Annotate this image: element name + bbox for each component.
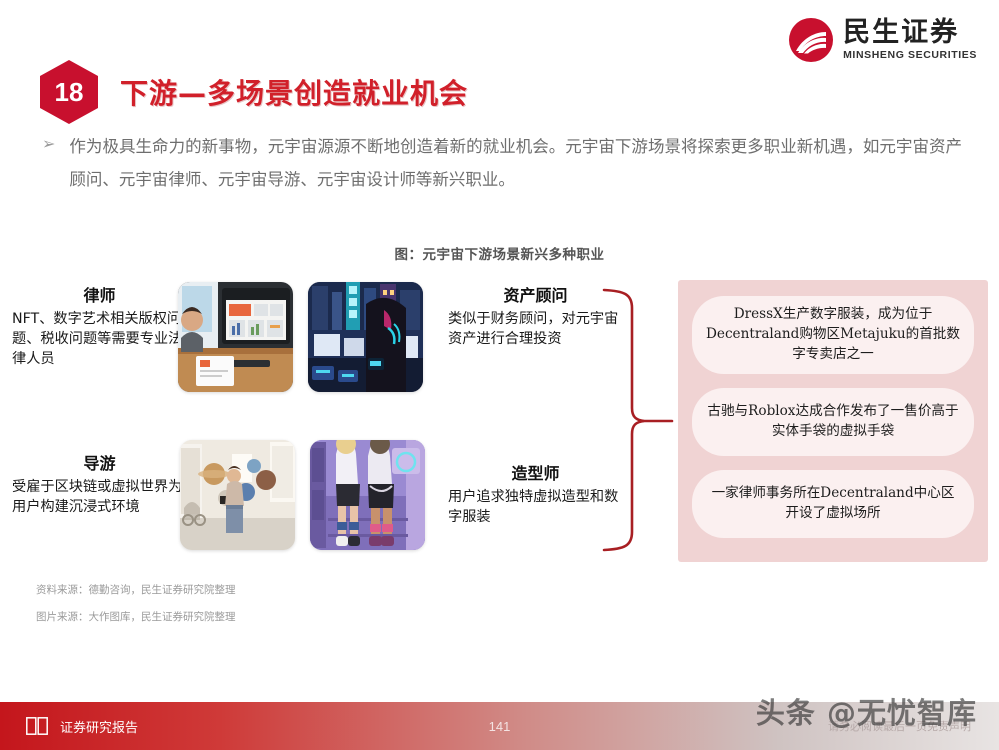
bullet-text: 作为极具生命力的新事物，元宇宙源源不断地创造着新的就业机会。元宇宙下游场景将探索…	[69, 130, 962, 196]
page-title: 下游—多场景创造就业机会	[120, 72, 468, 112]
role-block-advisor: 资产顾问 类似于财务顾问，对元宇宙资产进行合理投资	[448, 282, 623, 349]
role-title-guide: 导游	[12, 450, 187, 474]
bullet-arrow-icon: ➢	[42, 130, 55, 160]
case-pill-3: 一家律师事务所在Decentraland中心区开设了虚拟场所	[692, 470, 974, 538]
role-block-guide: 导游 受雇于区块链或虚拟世界为用户构建沉浸式环境	[12, 450, 187, 517]
photo-planets-room-art	[180, 440, 295, 550]
case-pill-2: 古驰与Roblox达成合作发布了一售价高于实体手袋的虚拟手袋	[692, 388, 974, 456]
slide-title-row: 18 下游—多场景创造就业机会	[40, 60, 468, 124]
role-title-lawyer: 律师	[12, 282, 187, 306]
figure-cluster: 律师 NFT、数字艺术相关版权问题、税收问题等需要专业法律人员 导游 受雇于区块…	[0, 270, 999, 570]
bullet-paragraph: ➢ 作为极具生命力的新事物，元宇宙源源不断地创造着新的就业机会。元宇宙下游场景将…	[42, 130, 962, 196]
case-panel: DressX生产数字服装，成为位于Decentraland购物区Metajuku…	[678, 280, 988, 562]
photo-avatars-fashion	[310, 440, 425, 550]
footer-disclaimer: 请务必阅读最后一页免责声明	[828, 718, 971, 734]
role-block-lawyer: 律师 NFT、数字艺术相关版权问题、税收问题等需要专业法律人员	[12, 282, 187, 369]
minsheng-logo-icon	[789, 18, 833, 62]
role-desc-guide: 受雇于区块链或虚拟世界为用户构建沉浸式环境	[12, 477, 187, 517]
photo-office-meeting	[178, 282, 293, 392]
role-desc-lawyer: NFT、数字艺术相关版权问题、税收问题等需要专业法律人员	[12, 309, 187, 369]
connector-brace	[600, 286, 690, 554]
role-block-stylist: 造型师 用户追求独特虚拟造型和数字服装	[448, 460, 623, 527]
source-image: 图片来源：大作图库，民生证券研究院整理	[36, 610, 236, 625]
company-logo: 民生证券 MINSHENG SECURITIES	[789, 18, 977, 62]
role-title-stylist: 造型师	[448, 460, 623, 484]
source-notes: 资料来源：德勤咨询，民生证券研究院整理 图片来源：大作图库，民生证券研究院整理	[36, 583, 236, 636]
figure-caption: 图：元宇宙下游场景新兴多种职业	[0, 243, 999, 263]
section-number-text: 18	[55, 77, 84, 108]
logo-wordmark: 民生证券 MINSHENG SECURITIES	[843, 19, 977, 61]
photo-planets-room	[180, 440, 295, 550]
brace-shape	[600, 286, 690, 554]
logo-english-name: MINSHENG SECURITIES	[843, 49, 977, 61]
logo-swoosh-shape	[795, 30, 827, 54]
photo-office-meeting-art	[178, 282, 293, 392]
role-desc-advisor: 类似于财务顾问，对元宇宙资产进行合理投资	[448, 309, 623, 349]
photo-cyber-city-art	[308, 282, 423, 392]
photo-cyber-city	[308, 282, 423, 392]
role-desc-stylist: 用户追求独特虚拟造型和数字服装	[448, 487, 623, 527]
logo-chinese-name: 民生证券	[843, 19, 977, 47]
photo-avatars-fashion-art	[310, 440, 425, 550]
footer-bar: 证券研究报告 141 请务必阅读最后一页免责声明	[0, 702, 999, 750]
role-title-advisor: 资产顾问	[448, 282, 623, 306]
section-number-badge: 18	[40, 60, 98, 124]
source-data: 资料来源：德勤咨询，民生证券研究院整理	[36, 583, 236, 598]
case-pill-1: DressX生产数字服装，成为位于Decentraland购物区Metajuku…	[692, 296, 974, 374]
slide-canvas: 民生证券 MINSHENG SECURITIES 18 下游—多场景创造就业机会…	[0, 0, 999, 750]
